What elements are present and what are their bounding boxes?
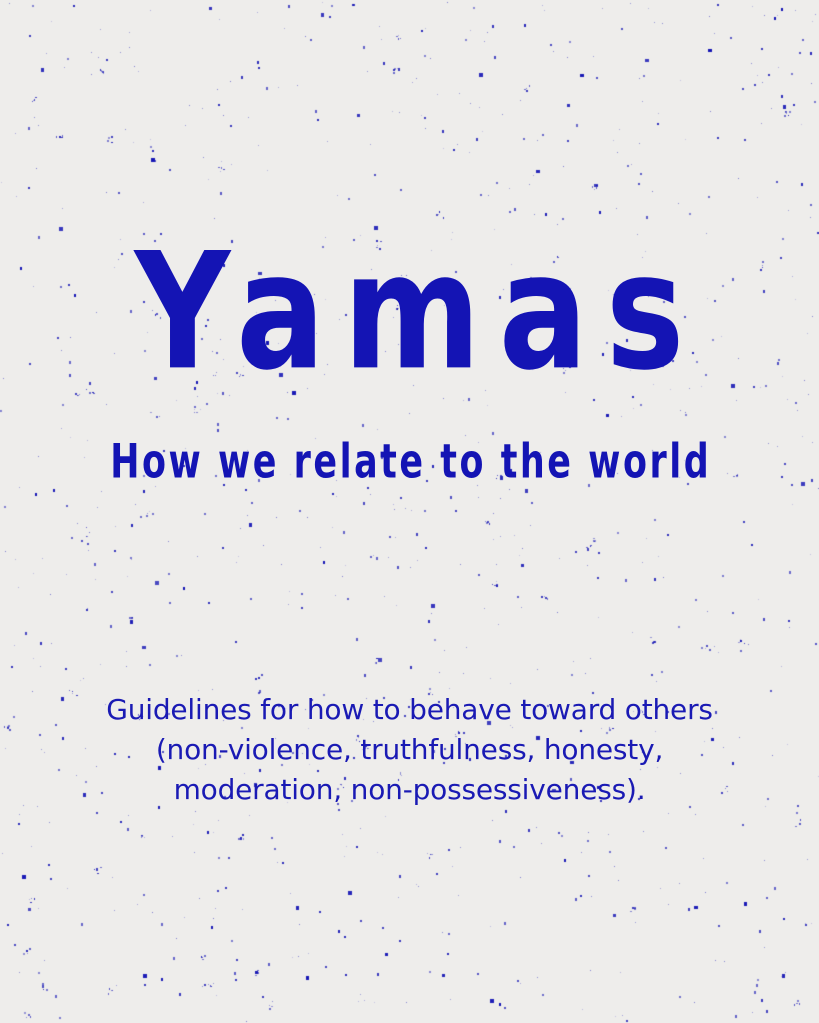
poster-canvas: Yamas How we relate to the world Guideli…	[0, 0, 819, 1023]
body-line: moderation, non-possessiveness).	[80, 770, 740, 810]
body-line: (non-violence, truthfulness, honesty,	[80, 730, 740, 770]
page-subtitle: How we relate to the world	[12, 440, 806, 487]
body-paragraph: Guidelines for how to behave toward othe…	[80, 690, 740, 810]
poster-content: Yamas How we relate to the world Guideli…	[0, 0, 819, 1023]
body-line: Guidelines for how to behave toward othe…	[80, 690, 740, 730]
page-title: Yamas	[0, 232, 819, 393]
